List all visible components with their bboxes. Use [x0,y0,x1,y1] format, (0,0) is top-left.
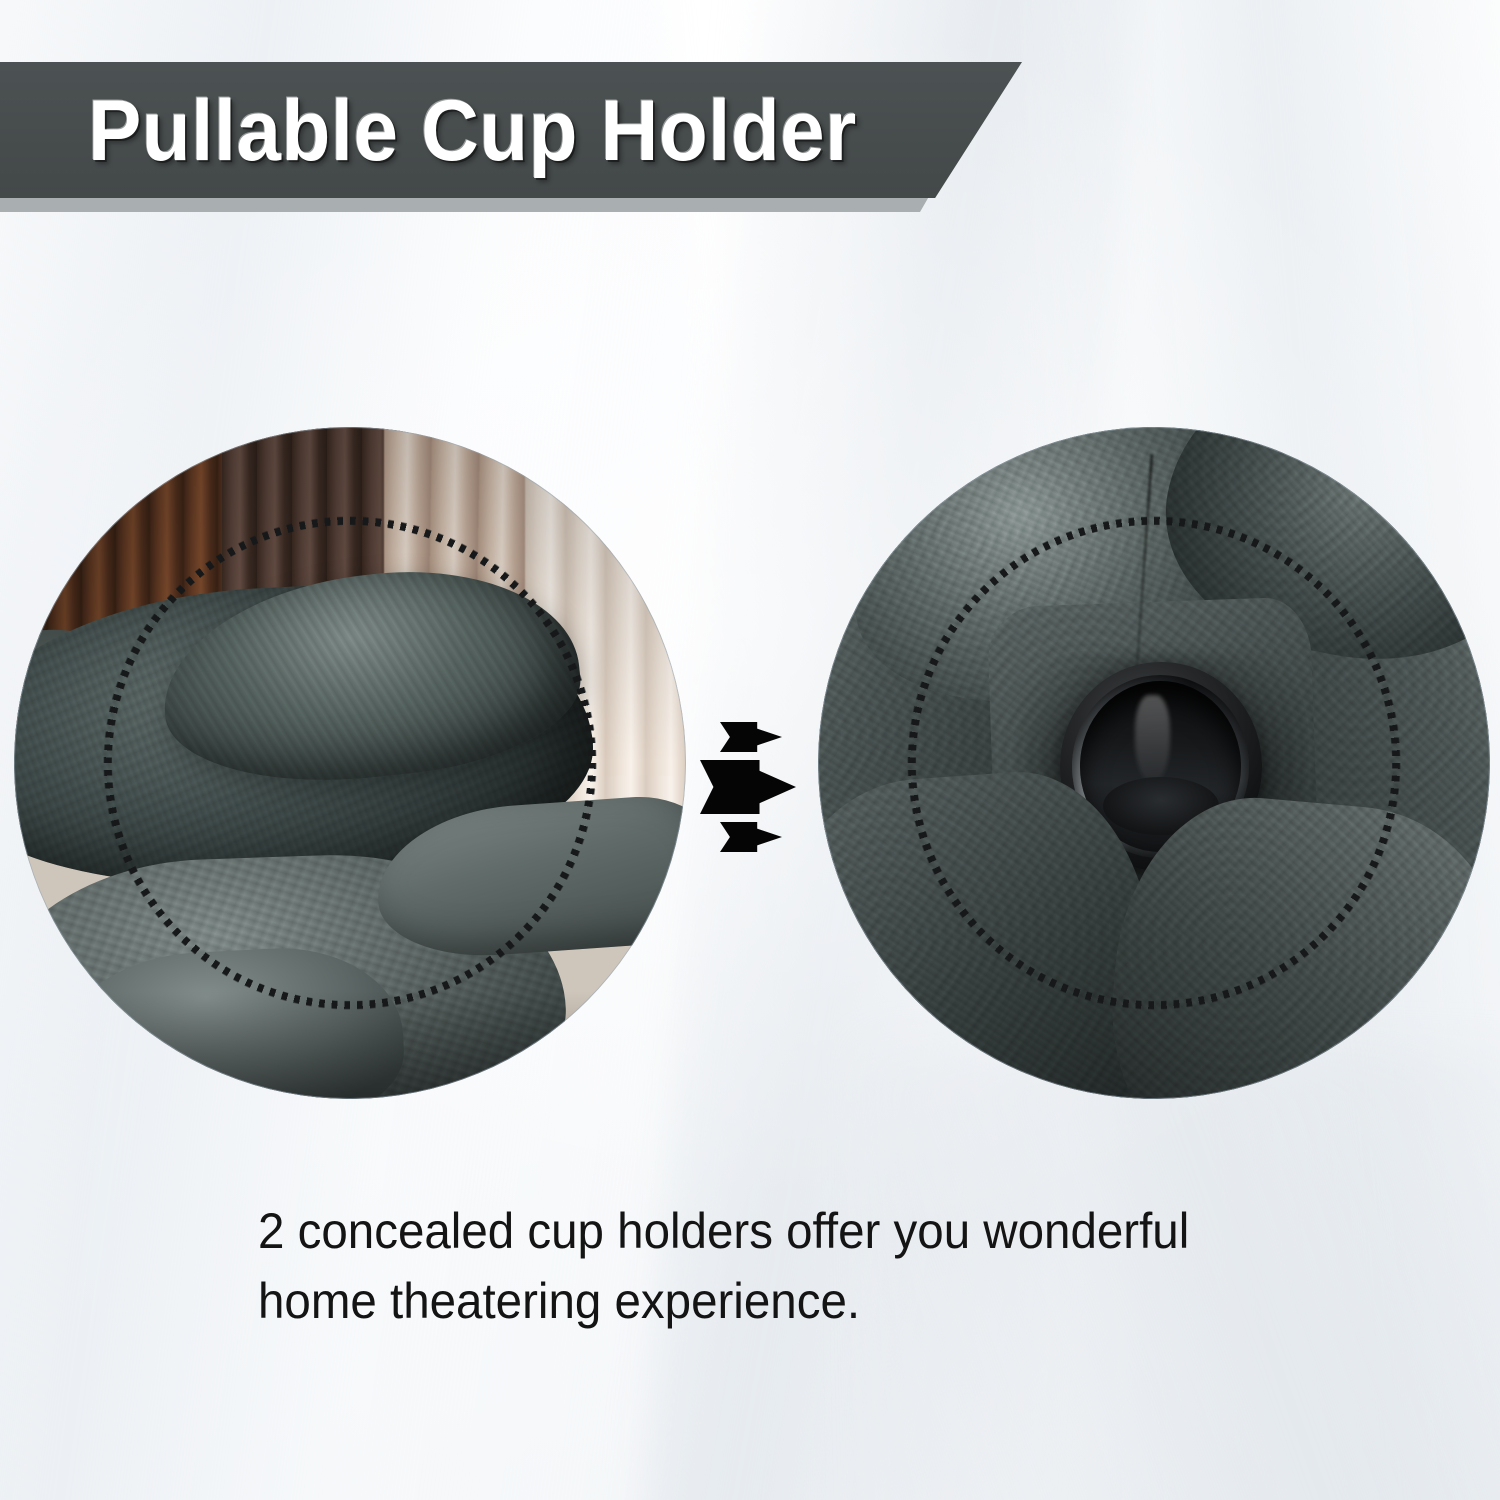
photo-after-image [818,427,1490,1099]
product-feature-graphic: Pullable Cup Holder [0,0,1500,1500]
arrow-right-small-bottom-icon [720,822,782,852]
arrow-right-small-top-icon [720,722,782,752]
banner-title-text: Pullable Cup Holder [88,82,857,181]
caption-line-1: 2 concealed cup holders offer you wonder… [258,1196,1218,1266]
caption-block: 2 concealed cup holders offer you wonder… [258,1196,1218,1336]
scene-cup-holder [818,427,1490,1099]
title-banner: Pullable Cup Holder [0,62,1030,212]
floor-shadow [14,991,686,1099]
photo-circle-after [818,427,1490,1099]
photo-circle-before [14,427,686,1099]
photo-before-image [14,427,686,1099]
caption-line-2: home theatering experience. [258,1266,1218,1336]
scene-living-room [14,427,686,1099]
transition-arrows [700,722,810,852]
arrow-right-large-icon [700,760,796,814]
cup-holder-highlight [1135,695,1170,784]
